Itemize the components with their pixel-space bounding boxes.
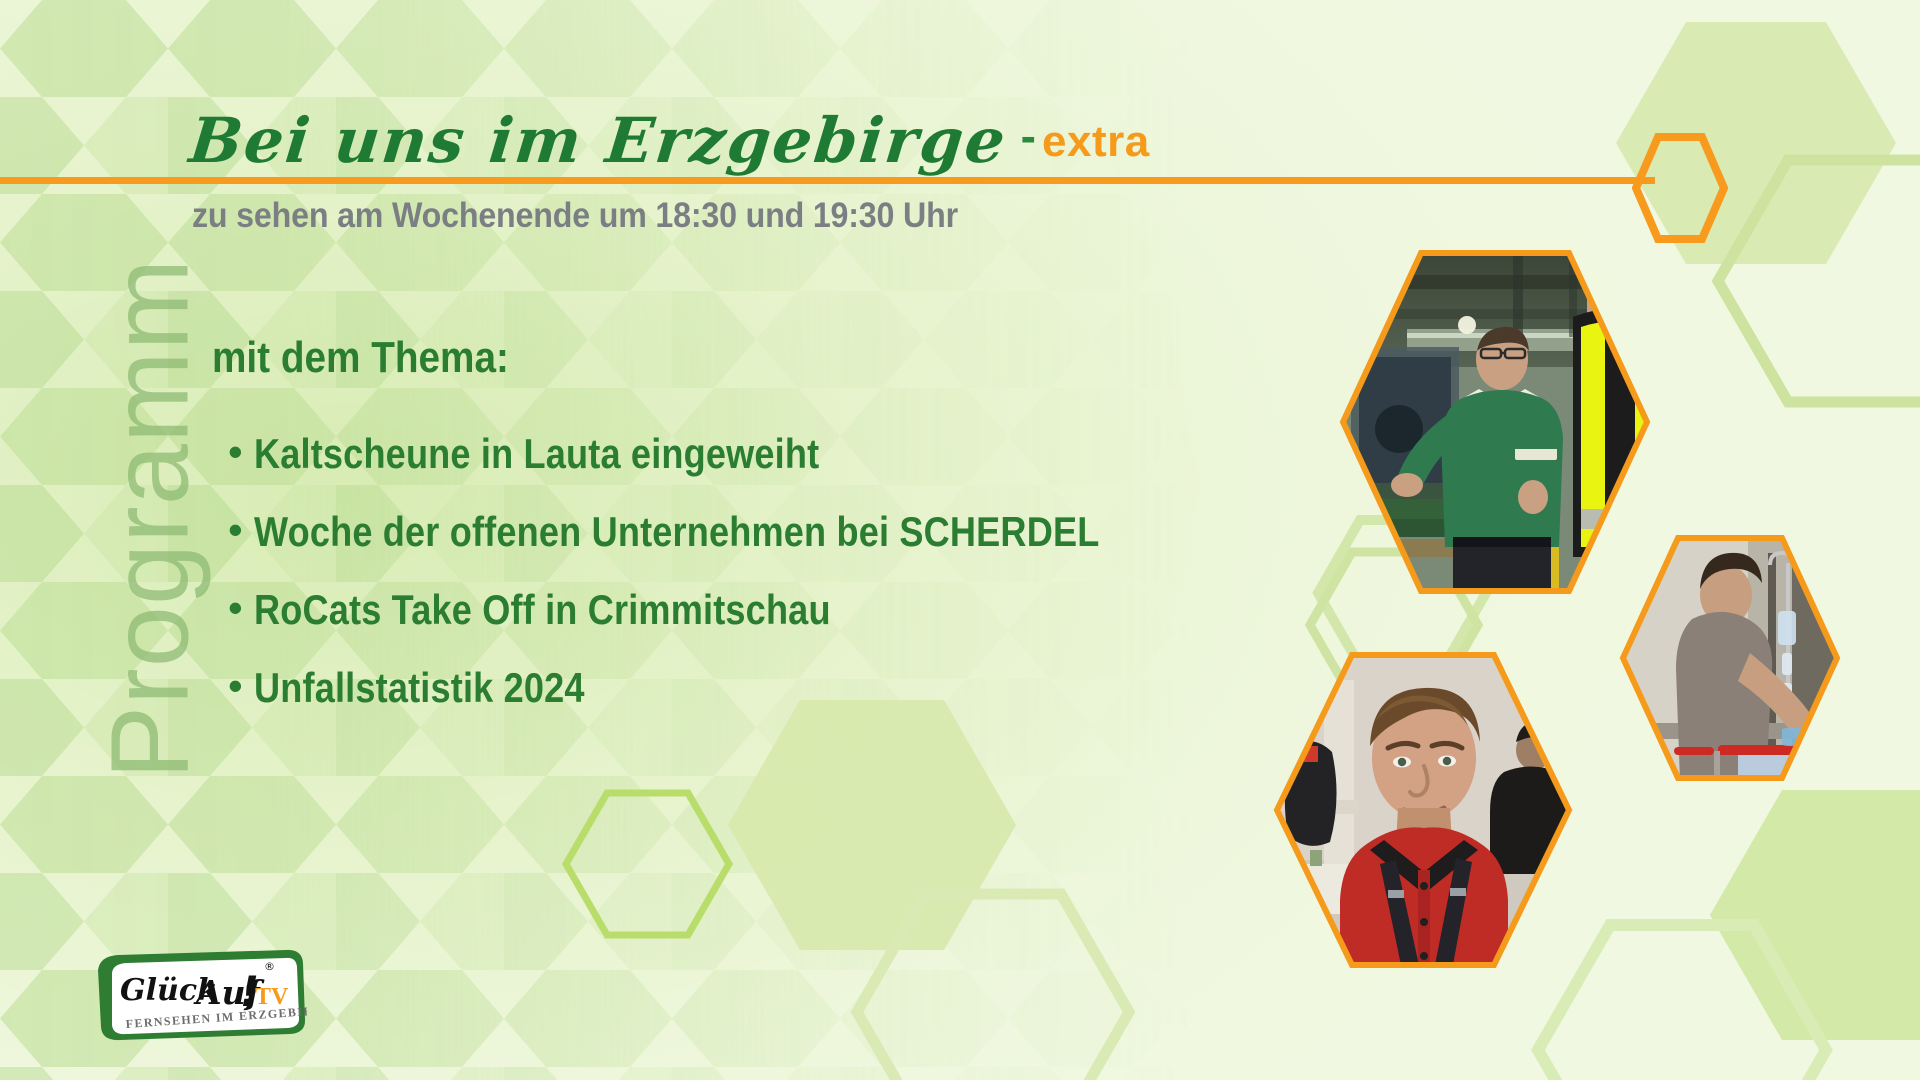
list-item: • Kaltscheune in Lauta eingeweiht [228, 430, 1237, 478]
factory-tour-photo [1337, 247, 1653, 597]
portrait-photo [1272, 650, 1574, 970]
topic-label: Kaltscheune in Lauta eingeweiht [254, 430, 819, 478]
bullet-icon: • [228, 587, 254, 629]
bullet-icon: • [228, 665, 254, 707]
page-title-script: Bei uns im Erzgebirge [187, 110, 1010, 172]
bullet-icon: • [228, 431, 254, 473]
broadcast-times-subtitle: zu sehen am Wochenende um 18:30 und 19:3… [192, 196, 958, 236]
topic-label: Woche der offenen Unternehmen bei SCHERD… [254, 508, 1099, 556]
list-item: • Unfallstatistik 2024 [228, 664, 1237, 712]
glueckauf-tv-logo: Glück Auf ! ® TV FERNSEHEN IM ERZGEBIRGE [92, 948, 307, 1043]
bullet-icon: • [228, 509, 254, 551]
orange-divider-rule [0, 177, 1655, 184]
hexagon-outline-icon [1632, 133, 1728, 243]
page-title-dash: - [1021, 113, 1036, 159]
logo-registered-icon: ® [264, 960, 275, 973]
page-title-extra: extra [1042, 120, 1150, 164]
topic-label: RoCats Take Off in Crimmitschau [254, 586, 831, 634]
topic-label: Unfallstatistik 2024 [254, 664, 585, 712]
topic-intro-label: mit dem Thema: [212, 333, 509, 383]
topic-list: • Kaltscheune in Lauta eingeweiht • Woch… [228, 430, 1237, 742]
page-title: Bei uns im Erzgebirge-extra [190, 110, 1150, 172]
list-item: • Woche der offenen Unternehmen bei SCHE… [228, 508, 1237, 556]
broadcast-promo-slide: Bei uns im Erzgebirge-extra zu sehen am … [0, 0, 1920, 1080]
list-item: • RoCats Take Off in Crimmitschau [228, 586, 1237, 634]
hospital-photo [1618, 533, 1842, 717]
